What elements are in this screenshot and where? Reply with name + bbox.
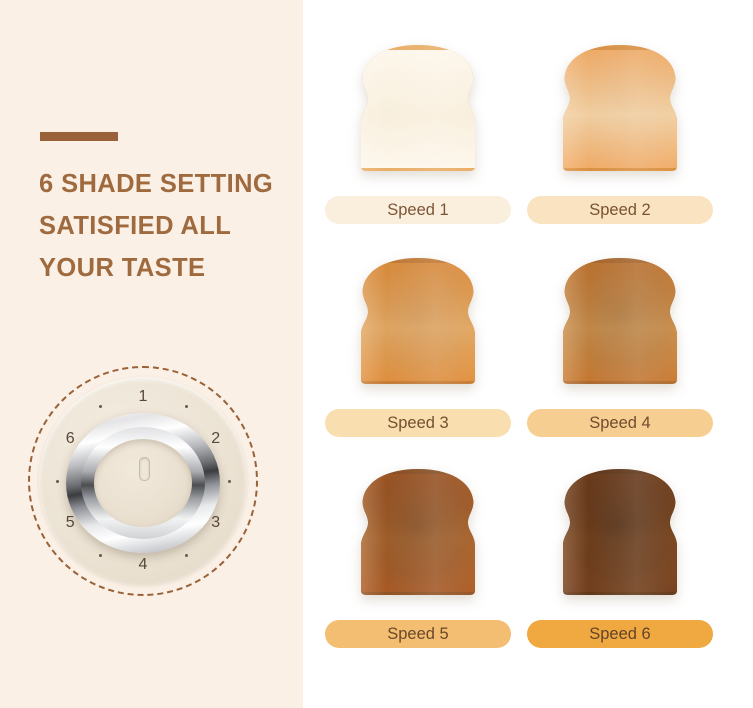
dial-tick-dot bbox=[56, 480, 59, 483]
dial-tick-dot bbox=[99, 405, 102, 408]
speed-label-pill[interactable]: Speed 4 bbox=[527, 409, 713, 437]
bread-slice-icon bbox=[548, 466, 692, 598]
dial-tick-dot bbox=[99, 554, 102, 557]
bread-slice-icon bbox=[346, 466, 490, 598]
dial-chrome-ring[interactable] bbox=[66, 413, 220, 553]
page-title-line-2: SATISFIED ALL bbox=[39, 205, 289, 247]
speed-label-pill[interactable]: Speed 5 bbox=[325, 620, 511, 648]
dial-tick-dot bbox=[185, 405, 188, 408]
shade-setting-infographic: 6 SHADE SETTING SATISFIED ALL YOUR TASTE… bbox=[0, 0, 753, 708]
page-title-line-3: YOUR TASTE bbox=[39, 247, 289, 289]
dial-pointer-indicator bbox=[139, 457, 150, 481]
toast-slice-area bbox=[527, 38, 713, 188]
left-info-panel: 6 SHADE SETTING SATISFIED ALL YOUR TASTE… bbox=[0, 0, 303, 708]
toast-shade-cell: Speed 4 bbox=[527, 251, 713, 459]
toast-slice-area bbox=[325, 462, 511, 612]
bread-slice-icon bbox=[346, 42, 490, 174]
dial-tick-dot bbox=[228, 480, 231, 483]
toast-slice-area bbox=[325, 251, 511, 401]
toast-slice-area bbox=[325, 38, 511, 188]
speed-label-pill[interactable]: Speed 3 bbox=[325, 409, 511, 437]
bread-slice-icon bbox=[548, 42, 692, 174]
dial-knob-hub[interactable] bbox=[94, 439, 192, 527]
speed-label-pill[interactable]: Speed 2 bbox=[527, 196, 713, 224]
toast-shade-cell: Speed 6 bbox=[527, 462, 713, 670]
speed-label-pill[interactable]: Speed 6 bbox=[527, 620, 713, 648]
speed-label-pill[interactable]: Speed 1 bbox=[325, 196, 511, 224]
accent-bar bbox=[40, 132, 118, 141]
dial-tick-dot bbox=[185, 554, 188, 557]
bread-slice-icon bbox=[346, 255, 490, 387]
shade-setting-dial[interactable]: 123456 bbox=[28, 366, 260, 598]
toast-shade-cell: Speed 1 bbox=[325, 38, 511, 246]
toast-shade-cell: Speed 2 bbox=[527, 38, 713, 246]
toast-shade-grid: Speed 1Speed 2Speed 3Speed 4Speed 5Speed… bbox=[303, 0, 753, 708]
dial-number-4[interactable]: 4 bbox=[132, 555, 154, 575]
toast-shade-cell: Speed 3 bbox=[325, 251, 511, 459]
bread-slice-icon bbox=[548, 255, 692, 387]
dial-chrome-ring-inner bbox=[81, 427, 205, 539]
toast-slice-area bbox=[527, 251, 713, 401]
toast-shade-cell: Speed 5 bbox=[325, 462, 511, 670]
page-title: 6 SHADE SETTING SATISFIED ALL YOUR TASTE bbox=[39, 163, 289, 289]
dial-number-1[interactable]: 1 bbox=[132, 387, 154, 407]
page-title-line-1: 6 SHADE SETTING bbox=[39, 163, 289, 205]
toast-slice-area bbox=[527, 462, 713, 612]
